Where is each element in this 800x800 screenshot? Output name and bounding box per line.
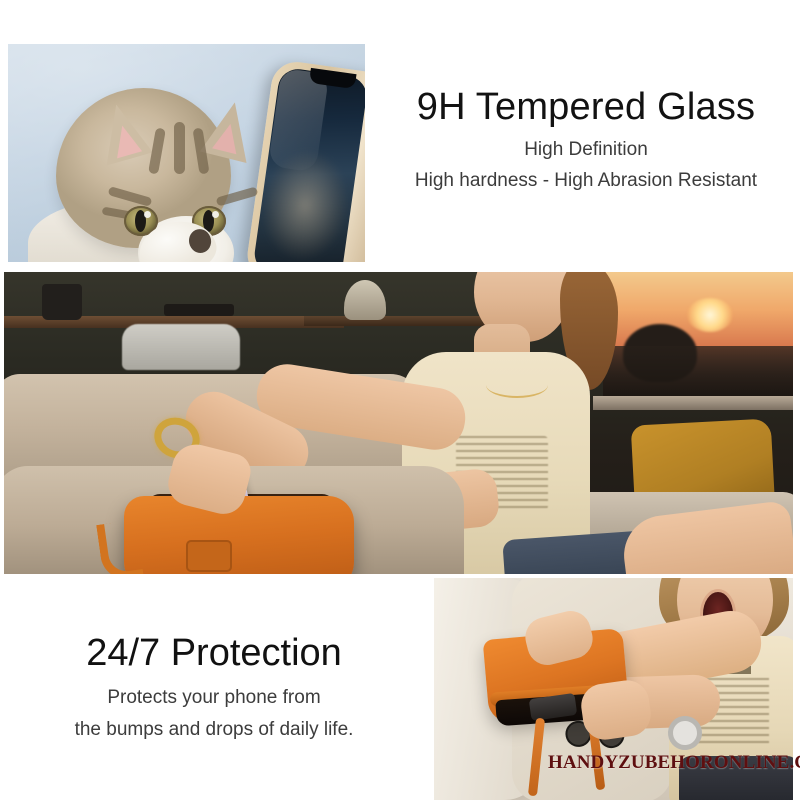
site-watermark: HANDYZUBEHORONLINE.COM bbox=[548, 752, 800, 774]
woman-placing-phone-in-handbag-photo bbox=[4, 272, 793, 574]
hill-silhouette bbox=[603, 346, 793, 402]
handbag-front-pocket bbox=[186, 540, 232, 572]
top-headline: 9H Tempered Glass bbox=[376, 86, 796, 129]
bottom-headline: 24/7 Protection bbox=[8, 632, 420, 675]
gold-necklace bbox=[486, 372, 548, 398]
tempered-glass-text-block: 9H Tempered Glass High Definition High h… bbox=[376, 86, 796, 195]
shelf-jar bbox=[42, 284, 82, 320]
top-subline-1: High Definition bbox=[376, 135, 796, 164]
top-subline-2: High hardness - High Abrasion Resistant bbox=[376, 166, 796, 195]
cat-ear-left bbox=[91, 98, 153, 165]
orange-handbag bbox=[124, 496, 354, 574]
grey-pillow bbox=[122, 324, 240, 370]
cat-looking-at-phone-photo bbox=[8, 44, 365, 262]
cat-forehead-stripe bbox=[148, 127, 166, 174]
window-sill bbox=[593, 396, 793, 410]
bottom-subline-2: the bumps and drops of daily life. bbox=[8, 715, 420, 745]
sun bbox=[687, 298, 733, 332]
cat-forehead-stripe bbox=[174, 122, 185, 174]
product-listing-image: 9H Tempered Glass High Definition High h… bbox=[0, 0, 800, 800]
bottom-subline-1: Protects your phone from bbox=[8, 683, 420, 713]
cat-cheek-stripe bbox=[108, 186, 153, 207]
shelf-book bbox=[164, 304, 234, 316]
handbag-strap bbox=[96, 519, 144, 574]
protection-text-block: 24/7 Protection Protects your phone from… bbox=[8, 632, 420, 745]
